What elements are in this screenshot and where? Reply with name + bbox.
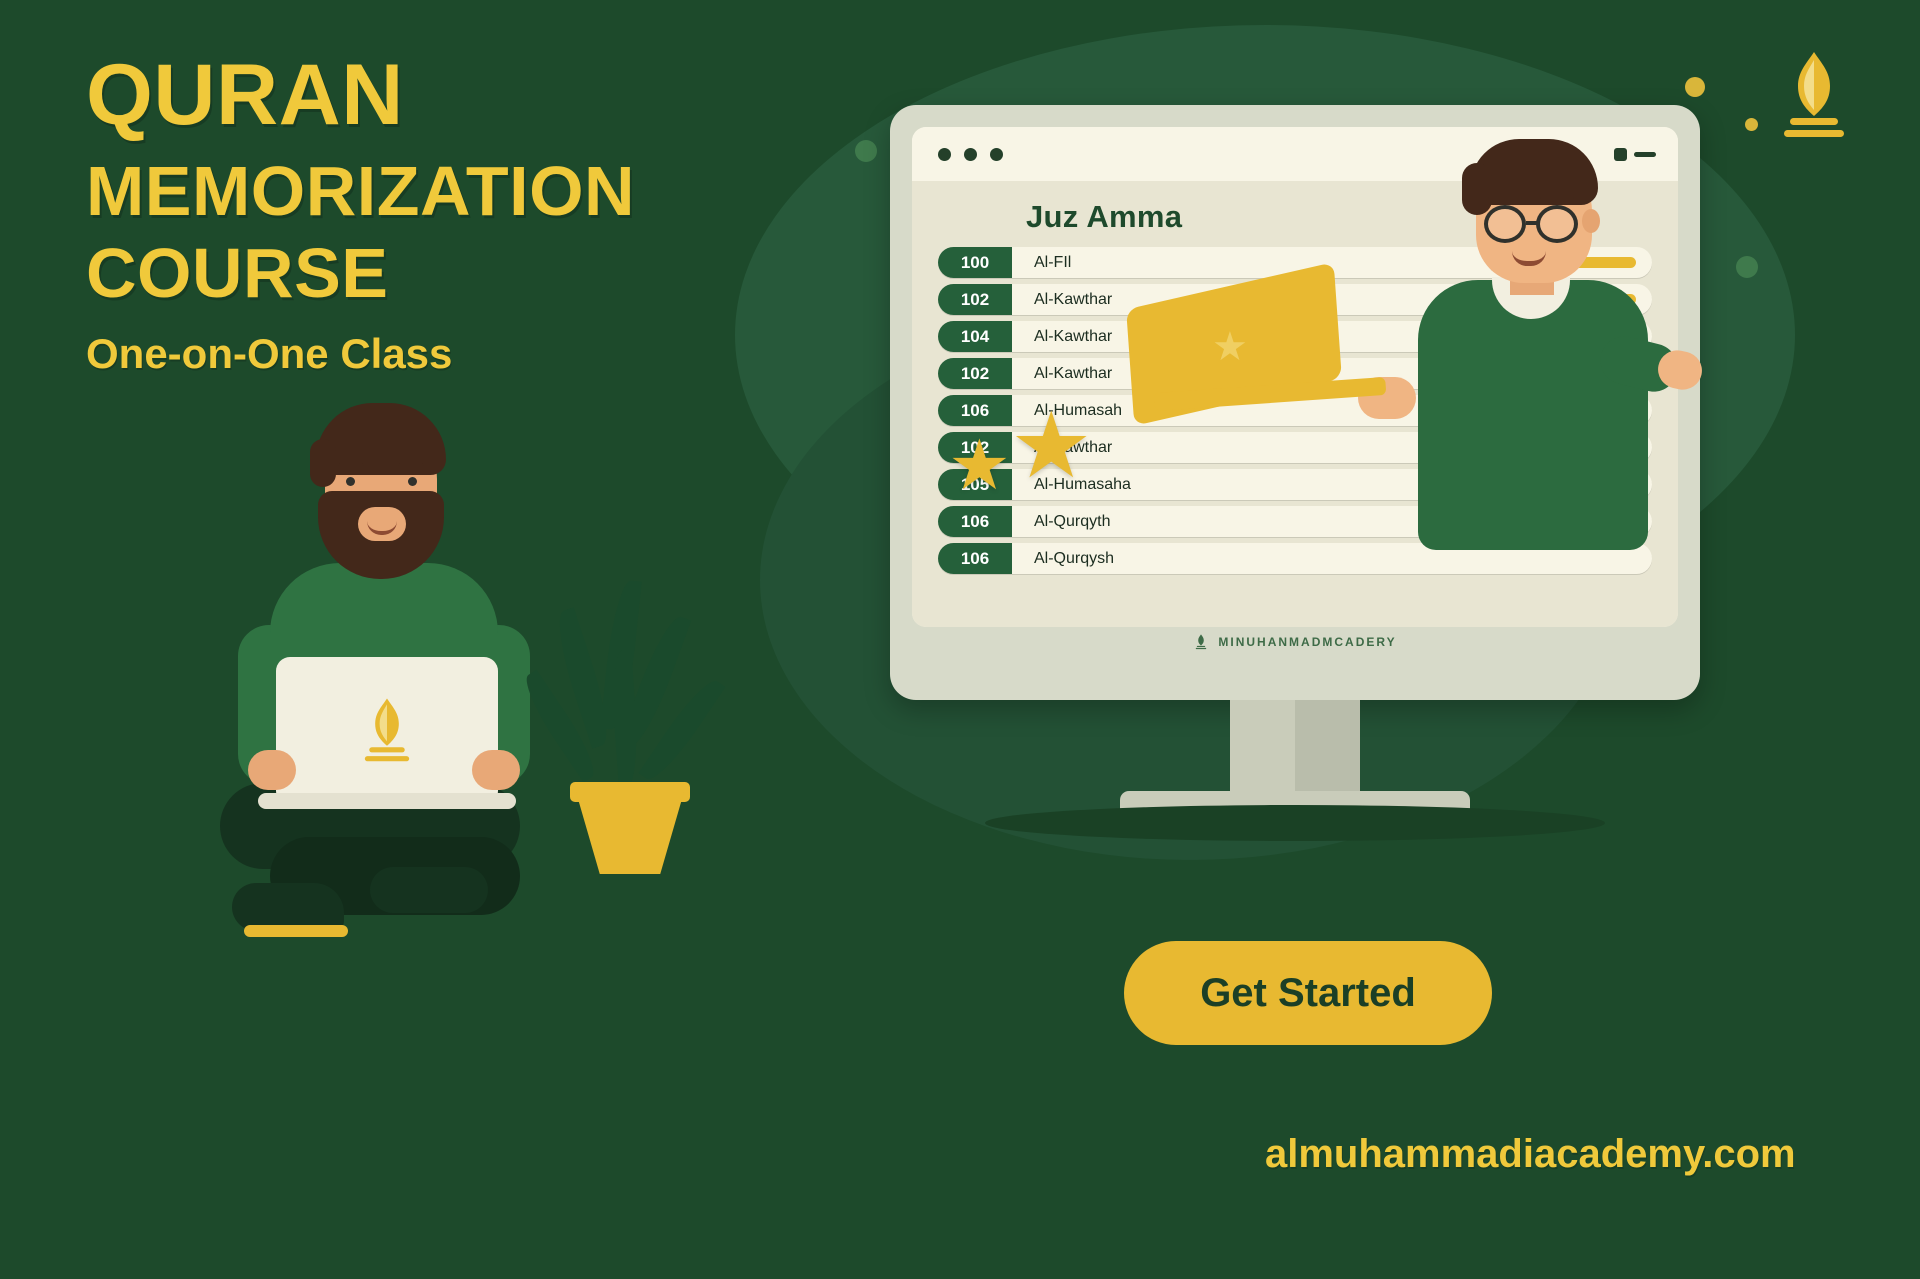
- teacher-hair-side: [1462, 163, 1492, 215]
- surah-number: 104: [938, 321, 1012, 352]
- student-hair-side: [310, 439, 336, 487]
- mosque-dome-logo-icon: [1193, 633, 1209, 651]
- headline-subtitle: One-on-One Class: [86, 330, 866, 378]
- headline-line-2: MEMORIZATION: [86, 156, 866, 226]
- student-eyebrow: [398, 463, 424, 468]
- student-shoe-sole: [244, 925, 348, 937]
- surah-number: 106: [938, 543, 1012, 574]
- get-started-button[interactable]: Get Started: [1124, 941, 1492, 1045]
- teacher-laptop: ★: [1130, 285, 1400, 425]
- headline-line-3: COURSE: [86, 238, 866, 308]
- plant-illustration: [530, 580, 720, 890]
- monitor-neck-shade: [1295, 700, 1360, 800]
- star-icon: ★: [1010, 400, 1092, 492]
- glasses-icon: [1536, 205, 1578, 243]
- website-url[interactable]: almuhammadiacademy.com: [1265, 1132, 1796, 1177]
- plant-pot: [576, 792, 684, 874]
- window-dot-icon[interactable]: [990, 148, 1003, 161]
- teacher-eyebrow: [1540, 195, 1574, 201]
- glasses-icon: [1484, 205, 1526, 243]
- teacher-illustration: [1400, 105, 1660, 545]
- surah-number: 102: [938, 284, 1012, 315]
- student-hand: [248, 750, 296, 790]
- student-laptop-screen: [276, 657, 498, 805]
- student-shoe: [370, 867, 488, 913]
- star-icon: ★: [948, 430, 1011, 500]
- monitor-brand: MINUHANMADMCADERY: [890, 633, 1700, 651]
- student-shoe: [232, 883, 344, 931]
- teacher-body: [1418, 280, 1648, 550]
- decor-dot-icon: [1685, 77, 1705, 97]
- decor-dot-icon: [1745, 118, 1758, 131]
- window-dot-icon[interactable]: [964, 148, 977, 161]
- decor-dot-icon: [1736, 256, 1758, 278]
- headline-line-1: QURAN: [86, 52, 866, 138]
- surah-number: 106: [938, 506, 1012, 537]
- student-hand: [472, 750, 520, 790]
- surah-number: 100: [938, 247, 1012, 278]
- poster-canvas: QURAN MEMORIZATION COURSE One-on-One Cla…: [0, 0, 1920, 1279]
- glasses-bridge: [1526, 221, 1538, 225]
- headline-block: QURAN MEMORIZATION COURSE One-on-One Cla…: [86, 52, 866, 378]
- surah-number: 106: [938, 395, 1012, 426]
- student-laptop-base: [258, 793, 516, 809]
- mosque-dome-logo-icon: [1768, 48, 1860, 144]
- student-eye: [408, 477, 417, 486]
- surah-number: 102: [938, 358, 1012, 389]
- monitor-brand-text: MINUHANMADMCADERY: [1218, 635, 1396, 649]
- student-eye: [346, 477, 355, 486]
- window-dot-icon[interactable]: [938, 148, 951, 161]
- mosque-dome-logo-icon: [353, 694, 421, 768]
- student-eyebrow: [338, 463, 364, 468]
- teacher-ear: [1582, 209, 1600, 233]
- star-icon: ★: [1212, 327, 1248, 367]
- monitor-base-shadow: [985, 805, 1605, 841]
- teacher-eyebrow: [1488, 195, 1522, 201]
